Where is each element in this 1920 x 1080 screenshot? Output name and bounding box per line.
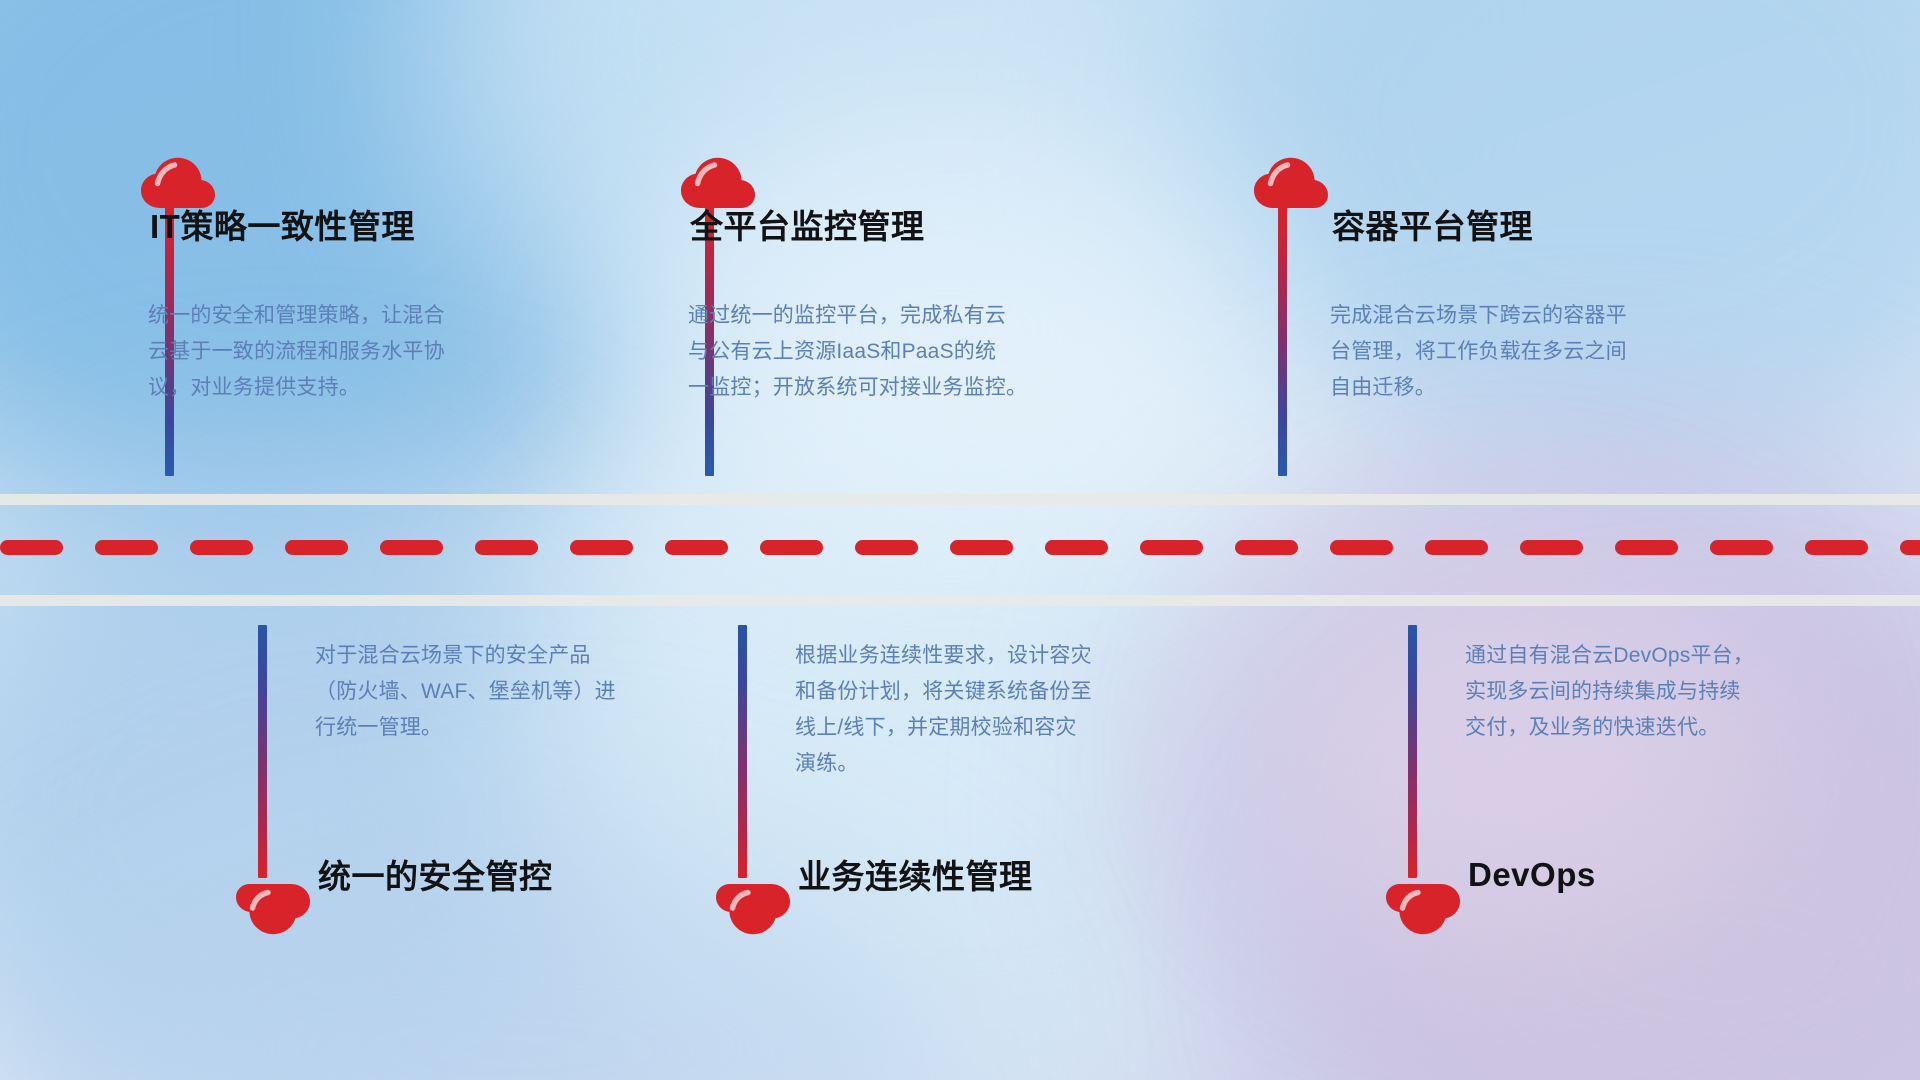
road-dash [855,540,918,555]
cloud-icon [715,883,791,935]
body-line: 通过统一的监控平台，完成私有云 [688,298,1048,334]
cloud-icon [1385,883,1461,935]
road-dash [1520,540,1583,555]
body-line: 自由迁移。 [1330,370,1690,406]
road-dash [190,540,253,555]
road-dash [665,540,728,555]
road-edge-top [0,494,1920,505]
body-line: 一监控；开放系统可对接业务监控。 [688,370,1048,406]
road-dash [380,540,443,555]
road-dash [1615,540,1678,555]
road-dash [475,540,538,555]
body-line: 根据业务连续性要求，设计容灾 [795,638,1155,674]
body-line: 云基于一致的流程和服务水平协 [148,334,508,370]
road-dash [1140,540,1203,555]
card-title: 业务连续性管理 [798,857,1033,897]
background-blob [0,470,700,1080]
road-dash [1900,540,1920,555]
road-dash [1045,540,1108,555]
road-dash [950,540,1013,555]
card-title: DevOps [1468,855,1596,895]
body-line: 议，对业务提供支持。 [148,370,508,406]
cloud-icon [680,157,756,209]
background-blob [1150,430,1920,1080]
cloud-icon [235,883,311,935]
card-body: 统一的安全和管理策略，让混合 云基于一致的流程和服务水平协 议，对业务提供支持。 [148,298,508,406]
road-dash [570,540,633,555]
body-line: （防火墙、WAF、堡垒机等）进 [315,674,675,710]
road-dash [285,540,348,555]
card-body: 根据业务连续性要求，设计容灾 和备份计划，将关键系统备份至 线上/线下，并定期校… [795,638,1155,782]
card-body: 对于混合云场景下的安全产品 （防火墙、WAF、堡垒机等）进 行统一管理。 [315,638,675,746]
card-body: 完成混合云场景下跨云的容器平 台管理，将工作负载在多云之间 自由迁移。 [1330,298,1690,406]
card-title: 容器平台管理 [1332,207,1533,247]
body-line: 对于混合云场景下的安全产品 [315,638,675,674]
connector-stem [1278,200,1287,476]
road-dash [1235,540,1298,555]
road-dash [1330,540,1393,555]
road-edge-bottom [0,595,1920,606]
road-dash [1710,540,1773,555]
body-line: 台管理，将工作负载在多云之间 [1330,334,1690,370]
connector-stem [738,625,747,878]
body-line: 统一的安全和管理策略，让混合 [148,298,508,334]
connector-stem [258,625,267,878]
road-dash [0,540,63,555]
body-line: 线上/线下，并定期校验和容灾 [795,710,1155,746]
road-dash [1425,540,1488,555]
connector-stem [1408,625,1417,878]
background-blob [0,0,720,540]
body-line: 完成混合云场景下跨云的容器平 [1330,298,1690,334]
card-title: 全平台监控管理 [690,207,925,247]
road-dash [760,540,823,555]
road-dash [1805,540,1868,555]
road-dash [95,540,158,555]
card-title: 统一的安全管控 [318,857,553,897]
cloud-icon [140,157,216,209]
cloud-icon [1253,157,1329,209]
card-title: IT策略一致性管理 [150,207,415,247]
background-blob [1180,0,1920,500]
body-line: 与公有云上资源IaaS和PaaS的统 [688,334,1048,370]
infographic-canvas: IT策略一致性管理 统一的安全和管理策略，让混合 云基于一致的流程和服务水平协 … [0,0,1920,1080]
card-body: 通过统一的监控平台，完成私有云 与公有云上资源IaaS和PaaS的统 一监控；开… [688,298,1048,406]
body-line: 行统一管理。 [315,710,675,746]
body-line: 交付，及业务的快速迭代。 [1465,710,1825,746]
body-line: 通过自有混合云DevOps平台， [1465,638,1825,674]
body-line: 实现多云间的持续集成与持续 [1465,674,1825,710]
body-line: 演练。 [795,746,1155,782]
road-center-dashes [0,540,1920,555]
card-body: 通过自有混合云DevOps平台， 实现多云间的持续集成与持续 交付，及业务的快速… [1465,638,1825,746]
body-line: 和备份计划，将关键系统备份至 [795,674,1155,710]
